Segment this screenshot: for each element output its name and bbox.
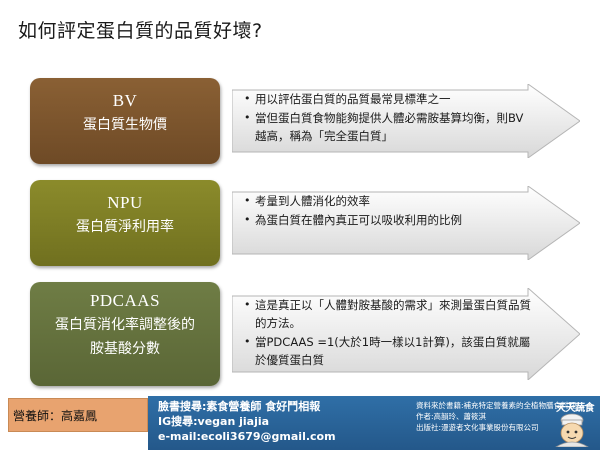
criteria-box-bv: BV 蛋白質生物價 (30, 78, 220, 164)
criteria-row-pdcaas: 這是真正以「人體對胺基酸的需求」來測量蛋白質品質的方法。 當PDCAAS =1(… (0, 282, 600, 386)
contact-info: 臉書搜尋:素食營養師 食好鬥相報 IG搜尋:vegan jiajia e-mai… (158, 399, 336, 444)
author-badge: 營養師：高嘉鳳 (8, 398, 148, 432)
footer-bar: 臉書搜尋:素食營養師 食好鬥相報 IG搜尋:vegan jiajia e-mai… (148, 396, 600, 450)
criteria-row-npu: 考量到人體消化的效率 為蛋白質在體內真正可以吸收利用的比例 NPU 蛋白質淨利用… (0, 180, 600, 266)
criteria-abbr: BV (30, 88, 220, 113)
criteria-box-npu: NPU 蛋白質淨利用率 (30, 180, 220, 266)
contact-line-facebook: 臉書搜尋:素食營養師 食好鬥相報 (158, 399, 336, 414)
brand-badge: 天天蔬食 (534, 397, 598, 449)
criteria-name: 蛋白質淨利用率 (30, 216, 220, 239)
list-item: 當PDCAAS =1(大於1時一樣以1計算)，該蛋白質就屬於優質蛋白質 (244, 333, 534, 369)
chef-avatar-icon (550, 411, 594, 447)
criteria-name-line2: 胺基酸分數 (30, 338, 220, 361)
criteria-abbr: NPU (30, 190, 220, 215)
slide: 如何評定蛋白質的品質好壞? 用以評估蛋白質的品質最常見標準之一 當但蛋白質食物能… (0, 0, 600, 450)
criteria-name-line1: 蛋白質消化率調整後的 (30, 314, 220, 337)
list-item: 這是真正以「人體對胺基酸的需求」來測量蛋白質品質的方法。 (244, 296, 534, 332)
list-item: 當但蛋白質食物能夠提供人體必需胺基算均衡，則BV越高，稱為「完全蛋白質」 (244, 109, 534, 145)
criteria-row-bv: 用以評估蛋白質的品質最常見標準之一 當但蛋白質食物能夠提供人體必需胺基算均衡，則… (0, 78, 600, 164)
bullet-list-pdcaas: 這是真正以「人體對胺基酸的需求」來測量蛋白質品質的方法。 當PDCAAS =1(… (244, 296, 534, 370)
list-item: 用以評估蛋白質的品質最常見標準之一 (244, 90, 534, 108)
criteria-abbr: PDCAAS (30, 288, 220, 313)
bullet-list-bv: 用以評估蛋白質的品質最常見標準之一 當但蛋白質食物能夠提供人體必需胺基算均衡，則… (244, 90, 534, 146)
contact-line-email[interactable]: e-mail:ecoli3679@gmail.com (158, 429, 336, 444)
bullet-list-npu: 考量到人體消化的效率 為蛋白質在體內真正可以吸收利用的比例 (244, 192, 534, 230)
list-item: 為蛋白質在體內真正可以吸收利用的比例 (244, 211, 534, 229)
page-title: 如何評定蛋白質的品質好壞? (18, 16, 263, 43)
criteria-name: 蛋白質生物價 (30, 114, 220, 137)
list-item: 考量到人體消化的效率 (244, 192, 534, 210)
criteria-box-pdcaas: PDCAAS 蛋白質消化率調整後的 胺基酸分數 (30, 282, 220, 386)
footer: 營養師：高嘉鳳 臉書搜尋:素食營養師 食好鬥相報 IG搜尋:vegan jiaj… (0, 396, 600, 450)
contact-line-instagram: IG搜尋:vegan jiajia (158, 414, 336, 429)
